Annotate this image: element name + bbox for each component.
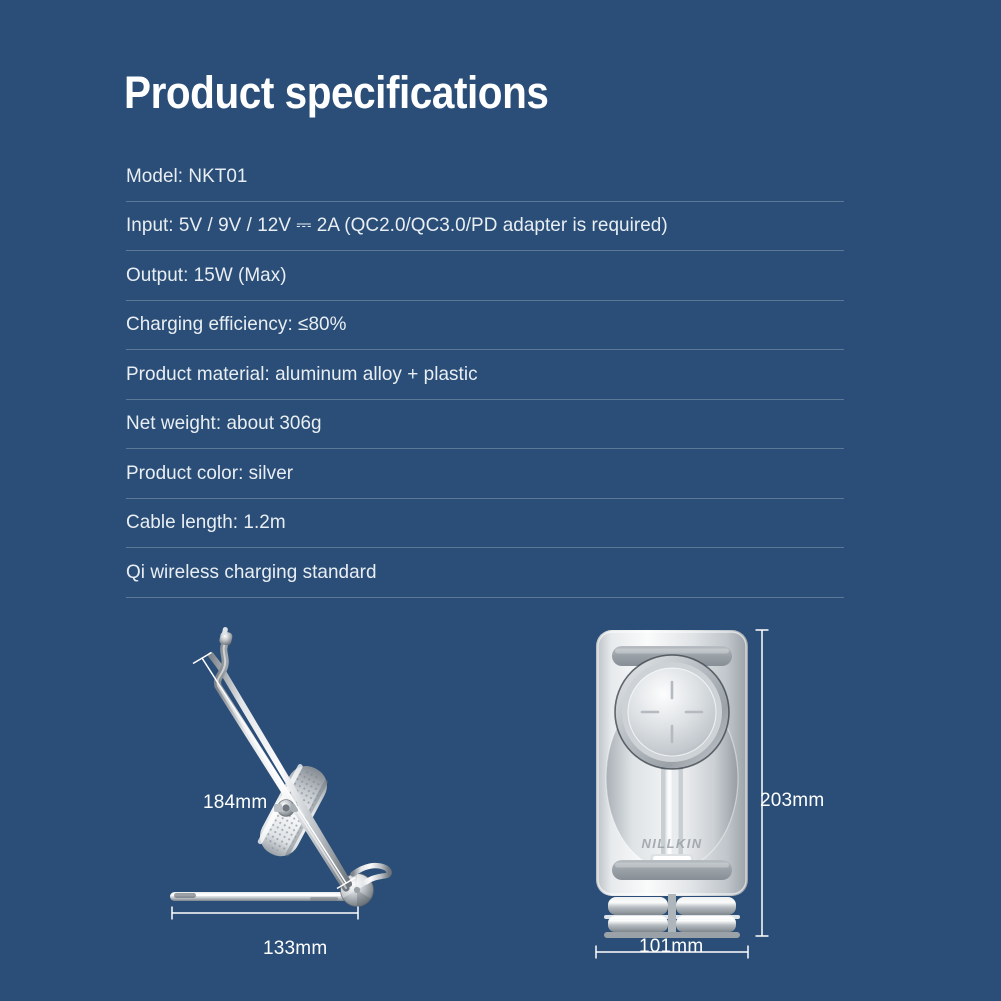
product-spec-page: Product specifications Model: NKT01 Inpu… — [0, 0, 1001, 1001]
spec-row-label: Qi wireless charging standard — [126, 561, 377, 584]
svg-text:NILLKIN: NILLKIN — [641, 836, 702, 851]
dimension-label-width: 101mm — [639, 936, 703, 958]
spec-row-label: Model: NKT01 — [126, 165, 247, 188]
spec-row-label: Input: 5V / 9V / 12V ⎓ 2A (QC2.0/QC3.0/P… — [126, 214, 668, 237]
spec-row: Net weight: about 306g — [126, 400, 844, 450]
base-bar — [170, 892, 357, 901]
spec-row-label: Product material: aluminum alloy + plast… — [126, 363, 478, 386]
spec-row: Cable length: 1.2m — [126, 499, 844, 549]
spec-row: Qi wireless charging standard — [126, 548, 844, 598]
spec-row-label: Cable length: 1.2m — [126, 511, 286, 534]
dimension-label-base-width: 133mm — [263, 938, 327, 960]
bottom-rubber-pad — [612, 860, 732, 880]
arm-tip-cap — [219, 627, 233, 647]
side-view-diagram: 184mm 133mm — [150, 616, 450, 1001]
brand-logo-nillkin: NILLKIN — [641, 836, 702, 851]
spec-row-label: Product color: silver — [126, 462, 293, 485]
front-view-illustration: NILLKIN — [560, 616, 880, 1001]
spec-row-label: Charging efficiency: ≤80% — [126, 313, 346, 336]
spec-row: Product color: silver — [126, 449, 844, 499]
spec-row-label: Output: 15W (Max) — [126, 264, 287, 287]
spec-row: Output: 15W (Max) — [126, 251, 844, 301]
hinge-assembly — [604, 894, 740, 938]
front-view-diagram: NILLKIN — [560, 616, 880, 1001]
page-title: Product specifications — [124, 68, 548, 118]
spec-row-label: Net weight: about 306g — [126, 412, 322, 435]
dimension-line-height — [756, 630, 769, 936]
dimension-label-diagonal: 184mm — [203, 792, 267, 814]
spec-row: Input: 5V / 9V / 12V ⎓ 2A (QC2.0/QC3.0/P… — [126, 202, 844, 252]
wireless-charging-pad — [615, 655, 729, 769]
spec-row: Model: NKT01 — [126, 152, 844, 202]
specifications-list: Model: NKT01 Input: 5V / 9V / 12V ⎓ 2A (… — [126, 152, 844, 598]
product-diagrams: 184mm 133mm — [0, 616, 1001, 1001]
spec-row: Charging efficiency: ≤80% — [126, 301, 844, 351]
dimension-line-base — [172, 907, 358, 920]
spec-row: Product material: aluminum alloy + plast… — [126, 350, 844, 400]
dimension-label-height: 203mm — [760, 790, 824, 812]
